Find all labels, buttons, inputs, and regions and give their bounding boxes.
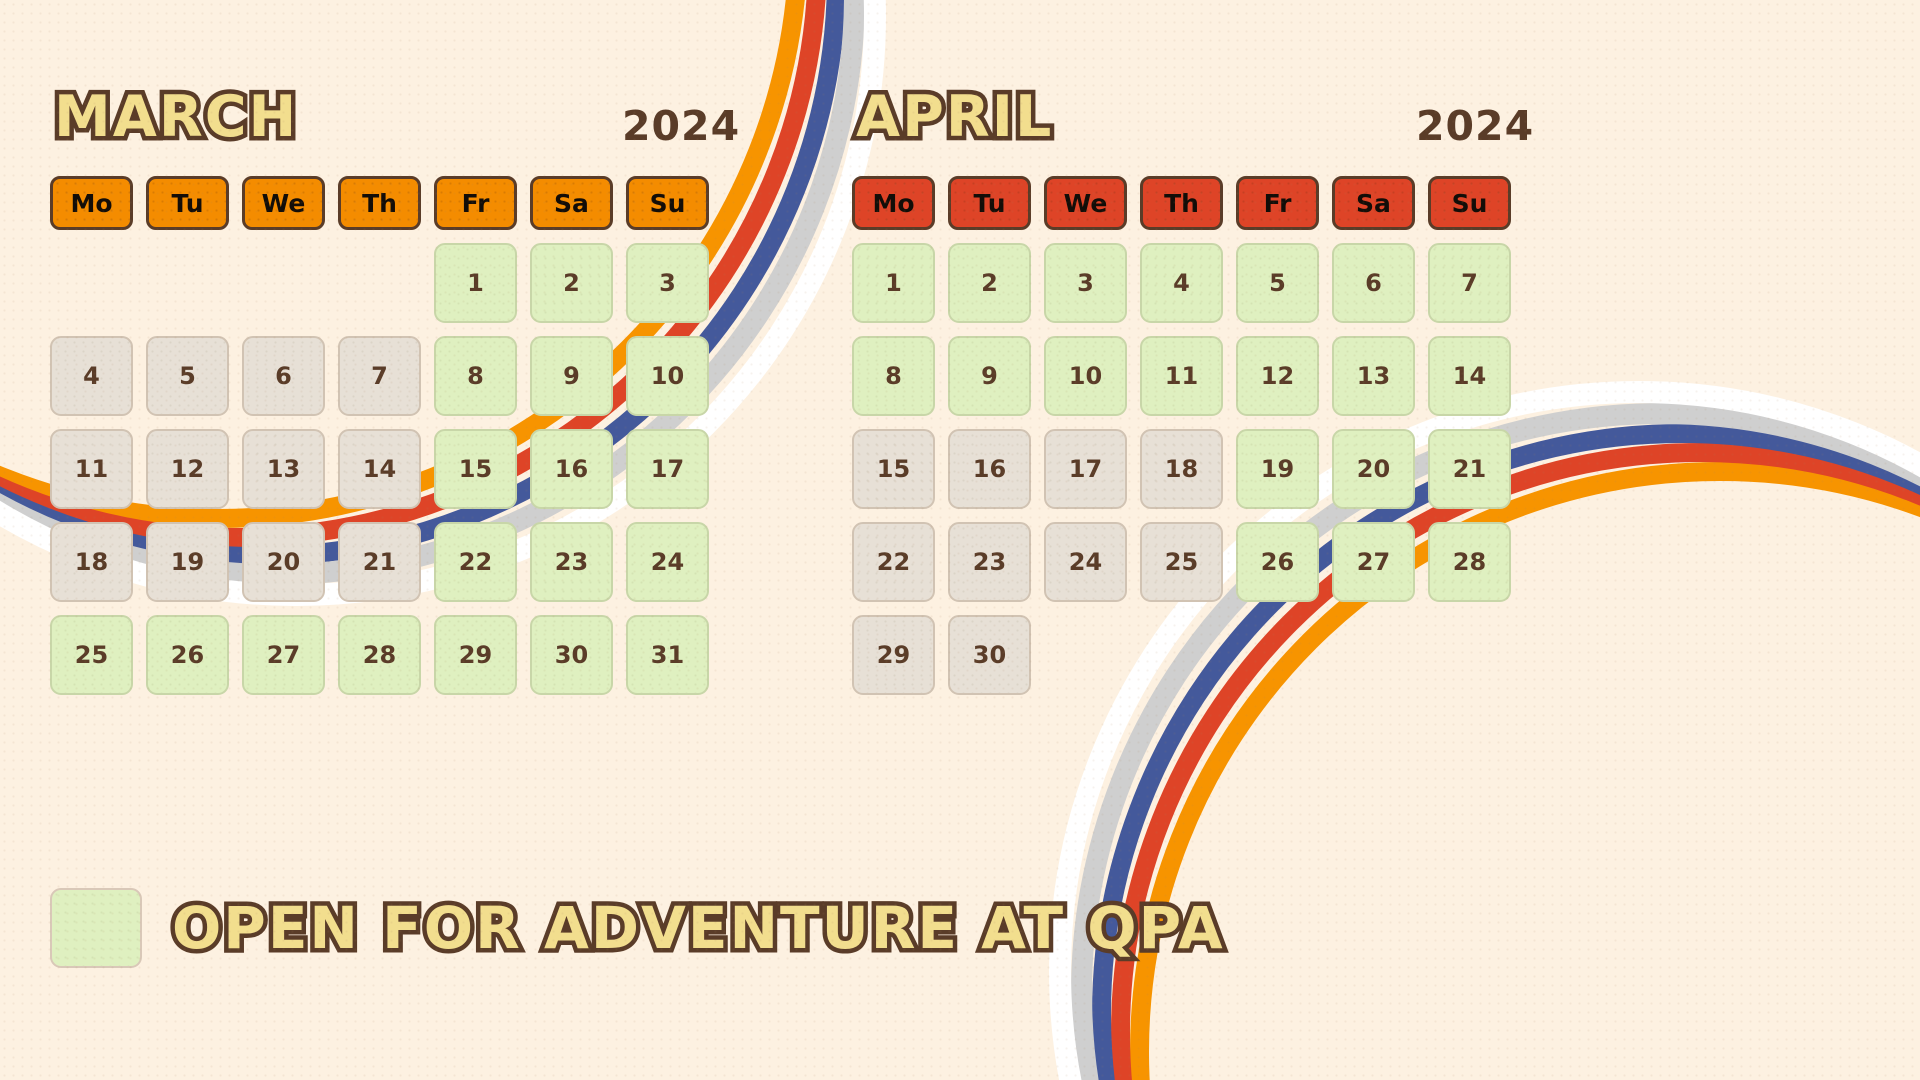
day-cell-april-9[interactable]: 9: [948, 336, 1031, 416]
day-cell-april-2[interactable]: 2: [948, 243, 1031, 323]
day-cell-april-25[interactable]: 25: [1140, 522, 1223, 602]
day-number: 12: [1261, 362, 1294, 390]
day-cell-march-4[interactable]: 4: [50, 336, 133, 416]
month-title-march: MARCH: [54, 84, 298, 150]
day-number: 20: [267, 548, 300, 576]
day-cell-empty: [1044, 615, 1127, 695]
day-cell-march-6[interactable]: 6: [242, 336, 325, 416]
day-cell-march-29[interactable]: 29: [434, 615, 517, 695]
day-number: 31: [651, 641, 684, 669]
day-cell-april-11[interactable]: 11: [1140, 336, 1223, 416]
day-cell-april-18[interactable]: 18: [1140, 429, 1223, 509]
day-cell-march-31[interactable]: 31: [626, 615, 709, 695]
calendar-sheet: MARCH 2024 MoTuWeThFrSaSu123456789101112…: [0, 0, 1920, 1080]
day-cell-march-9[interactable]: 9: [530, 336, 613, 416]
day-cell-april-26[interactable]: 26: [1236, 522, 1319, 602]
weekday-label: Su: [650, 189, 686, 218]
day-number: 17: [651, 455, 684, 483]
day-number: 3: [659, 269, 676, 297]
day-cell-march-26[interactable]: 26: [146, 615, 229, 695]
day-number: 5: [1269, 269, 1286, 297]
day-number: 11: [75, 455, 108, 483]
day-number: 1: [467, 269, 484, 297]
weekday-label: Mo: [70, 189, 112, 218]
day-cell-april-7[interactable]: 7: [1428, 243, 1511, 323]
day-cell-empty: [242, 243, 325, 323]
weekday-header-sa[interactable]: Sa: [530, 176, 613, 230]
day-cell-april-22[interactable]: 22: [852, 522, 935, 602]
day-number: 15: [877, 455, 910, 483]
day-cell-april-6[interactable]: 6: [1332, 243, 1415, 323]
day-cell-empty: [1236, 615, 1319, 695]
month-panel-march: MARCH 2024 MoTuWeThFrSaSu123456789101112…: [50, 88, 884, 695]
month-title-april: APRIL: [856, 84, 1053, 150]
day-number: 29: [877, 641, 910, 669]
day-number: 1: [885, 269, 902, 297]
day-number: 24: [651, 548, 684, 576]
weekday-header-mo[interactable]: Mo: [852, 176, 935, 230]
day-number: 4: [1173, 269, 1190, 297]
day-number: 4: [83, 362, 100, 390]
day-cell-april-28[interactable]: 28: [1428, 522, 1511, 602]
day-number: 9: [981, 362, 998, 390]
weekday-header-su[interactable]: Su: [626, 176, 709, 230]
day-number: 30: [555, 641, 588, 669]
weekday-label: Fr: [462, 189, 490, 218]
day-number: 12: [171, 455, 204, 483]
day-number: 7: [371, 362, 388, 390]
legend-swatch-open: [50, 888, 142, 968]
weekday-header-sa[interactable]: Sa: [1332, 176, 1415, 230]
day-cell-march-19[interactable]: 19: [146, 522, 229, 602]
weekday-header-tu[interactable]: Tu: [948, 176, 1031, 230]
weekday-header-th[interactable]: Th: [1140, 176, 1223, 230]
day-number: 13: [267, 455, 300, 483]
day-number: 19: [1261, 455, 1294, 483]
day-cell-april-30[interactable]: 30: [948, 615, 1031, 695]
day-number: 21: [1453, 455, 1486, 483]
day-cell-april-15[interactable]: 15: [852, 429, 935, 509]
day-cell-march-8[interactable]: 8: [434, 336, 517, 416]
day-cell-march-21[interactable]: 21: [338, 522, 421, 602]
day-cell-april-13[interactable]: 13: [1332, 336, 1415, 416]
day-number: 25: [1165, 548, 1198, 576]
day-number: 13: [1357, 362, 1390, 390]
day-cell-march-18[interactable]: 18: [50, 522, 133, 602]
day-cell-march-23[interactable]: 23: [530, 522, 613, 602]
day-cell-april-12[interactable]: 12: [1236, 336, 1319, 416]
day-cell-march-15[interactable]: 15: [434, 429, 517, 509]
day-number: 3: [1077, 269, 1094, 297]
day-cell-empty: [1140, 615, 1223, 695]
day-number: 30: [973, 641, 1006, 669]
day-cell-march-14[interactable]: 14: [338, 429, 421, 509]
weekday-header-we[interactable]: We: [1044, 176, 1127, 230]
day-cell-april-14[interactable]: 14: [1428, 336, 1511, 416]
day-cell-march-25[interactable]: 25: [50, 615, 133, 695]
day-cell-empty: [50, 243, 133, 323]
day-number: 27: [1357, 548, 1390, 576]
day-cell-april-20[interactable]: 20: [1332, 429, 1415, 509]
weekday-label: Tu: [171, 189, 203, 218]
day-number: 26: [171, 641, 204, 669]
day-number: 8: [885, 362, 902, 390]
day-cell-march-3[interactable]: 3: [626, 243, 709, 323]
weekday-label: We: [1064, 189, 1108, 218]
month-panel-april: APRIL 2024 MoTuWeThFrSaSu123456789101112…: [852, 88, 1686, 695]
day-cell-empty: [1428, 615, 1511, 695]
day-cell-march-16[interactable]: 16: [530, 429, 613, 509]
weekday-label: Sa: [1356, 189, 1391, 218]
weekday-header-th[interactable]: Th: [338, 176, 421, 230]
day-number: 18: [1165, 455, 1198, 483]
day-number: 29: [459, 641, 492, 669]
day-cell-april-24[interactable]: 24: [1044, 522, 1127, 602]
day-cell-april-17[interactable]: 17: [1044, 429, 1127, 509]
day-cell-april-19[interactable]: 19: [1236, 429, 1319, 509]
month-year-april: 2024: [1416, 102, 1534, 150]
day-number: 26: [1261, 548, 1294, 576]
day-number: 14: [1453, 362, 1486, 390]
weekday-header-we[interactable]: We: [242, 176, 325, 230]
day-number: 7: [1461, 269, 1478, 297]
day-number: 10: [1069, 362, 1102, 390]
calendar-grid-april: MoTuWeThFrSaSu12345678910111213141516171…: [852, 176, 1511, 695]
weekday-label: Sa: [554, 189, 589, 218]
day-number: 8: [467, 362, 484, 390]
day-cell-march-17[interactable]: 17: [626, 429, 709, 509]
day-cell-april-29[interactable]: 29: [852, 615, 935, 695]
day-number: 24: [1069, 548, 1102, 576]
day-cell-empty: [338, 243, 421, 323]
day-number: 2: [981, 269, 998, 297]
day-number: 2: [563, 269, 580, 297]
weekday-label: Tu: [973, 189, 1005, 218]
weekday-label: Th: [362, 189, 397, 218]
day-number: 23: [973, 548, 1006, 576]
day-number: 22: [459, 548, 492, 576]
day-cell-april-16[interactable]: 16: [948, 429, 1031, 509]
day-number: 11: [1165, 362, 1198, 390]
weekday-label: We: [262, 189, 306, 218]
weekday-header-fr[interactable]: Fr: [1236, 176, 1319, 230]
day-cell-march-30[interactable]: 30: [530, 615, 613, 695]
day-number: 15: [459, 455, 492, 483]
day-cell-march-27[interactable]: 27: [242, 615, 325, 695]
day-number: 9: [563, 362, 580, 390]
weekday-label: Th: [1164, 189, 1199, 218]
day-cell-april-8[interactable]: 8: [852, 336, 935, 416]
day-number: 6: [1365, 269, 1382, 297]
day-cell-empty: [146, 243, 229, 323]
day-cell-empty: [1332, 615, 1415, 695]
day-cell-april-1[interactable]: 1: [852, 243, 935, 323]
month-header-march: MARCH 2024: [50, 88, 884, 176]
day-number: 10: [651, 362, 684, 390]
day-number: 20: [1357, 455, 1390, 483]
day-cell-april-21[interactable]: 21: [1428, 429, 1511, 509]
day-cell-march-22[interactable]: 22: [434, 522, 517, 602]
weekday-label: Mo: [872, 189, 914, 218]
day-number: 16: [973, 455, 1006, 483]
day-number: 23: [555, 548, 588, 576]
weekday-label: Fr: [1264, 189, 1292, 218]
day-number: 28: [363, 641, 396, 669]
weekday-header-tu[interactable]: Tu: [146, 176, 229, 230]
legend: OPEN FOR ADVENTURE AT QPA: [50, 888, 1225, 968]
day-cell-april-3[interactable]: 3: [1044, 243, 1127, 323]
day-number: 25: [75, 641, 108, 669]
day-cell-march-5[interactable]: 5: [146, 336, 229, 416]
day-number: 27: [267, 641, 300, 669]
day-cell-april-4[interactable]: 4: [1140, 243, 1223, 323]
day-cell-april-10[interactable]: 10: [1044, 336, 1127, 416]
day-number: 14: [363, 455, 396, 483]
day-cell-march-20[interactable]: 20: [242, 522, 325, 602]
calendar-grid-march: MoTuWeThFrSaSu12345678910111213141516171…: [50, 176, 709, 695]
day-cell-april-27[interactable]: 27: [1332, 522, 1415, 602]
day-number: 28: [1453, 548, 1486, 576]
month-year-march: 2024: [622, 102, 740, 150]
day-cell-april-23[interactable]: 23: [948, 522, 1031, 602]
day-number: 16: [555, 455, 588, 483]
day-number: 17: [1069, 455, 1102, 483]
day-number: 5: [179, 362, 196, 390]
day-cell-march-11[interactable]: 11: [50, 429, 133, 509]
day-number: 18: [75, 548, 108, 576]
weekday-header-su[interactable]: Su: [1428, 176, 1511, 230]
day-cell-march-2[interactable]: 2: [530, 243, 613, 323]
day-cell-march-24[interactable]: 24: [626, 522, 709, 602]
legend-label: OPEN FOR ADVENTURE AT QPA: [172, 894, 1225, 962]
day-cell-march-10[interactable]: 10: [626, 336, 709, 416]
day-cell-march-28[interactable]: 28: [338, 615, 421, 695]
month-header-april: APRIL 2024: [852, 88, 1686, 176]
day-number: 19: [171, 548, 204, 576]
day-cell-march-1[interactable]: 1: [434, 243, 517, 323]
day-number: 21: [363, 548, 396, 576]
weekday-header-mo[interactable]: Mo: [50, 176, 133, 230]
day-cell-march-12[interactable]: 12: [146, 429, 229, 509]
weekday-label: Su: [1452, 189, 1488, 218]
day-cell-march-13[interactable]: 13: [242, 429, 325, 509]
day-number: 6: [275, 362, 292, 390]
day-cell-april-5[interactable]: 5: [1236, 243, 1319, 323]
day-cell-march-7[interactable]: 7: [338, 336, 421, 416]
day-number: 22: [877, 548, 910, 576]
weekday-header-fr[interactable]: Fr: [434, 176, 517, 230]
